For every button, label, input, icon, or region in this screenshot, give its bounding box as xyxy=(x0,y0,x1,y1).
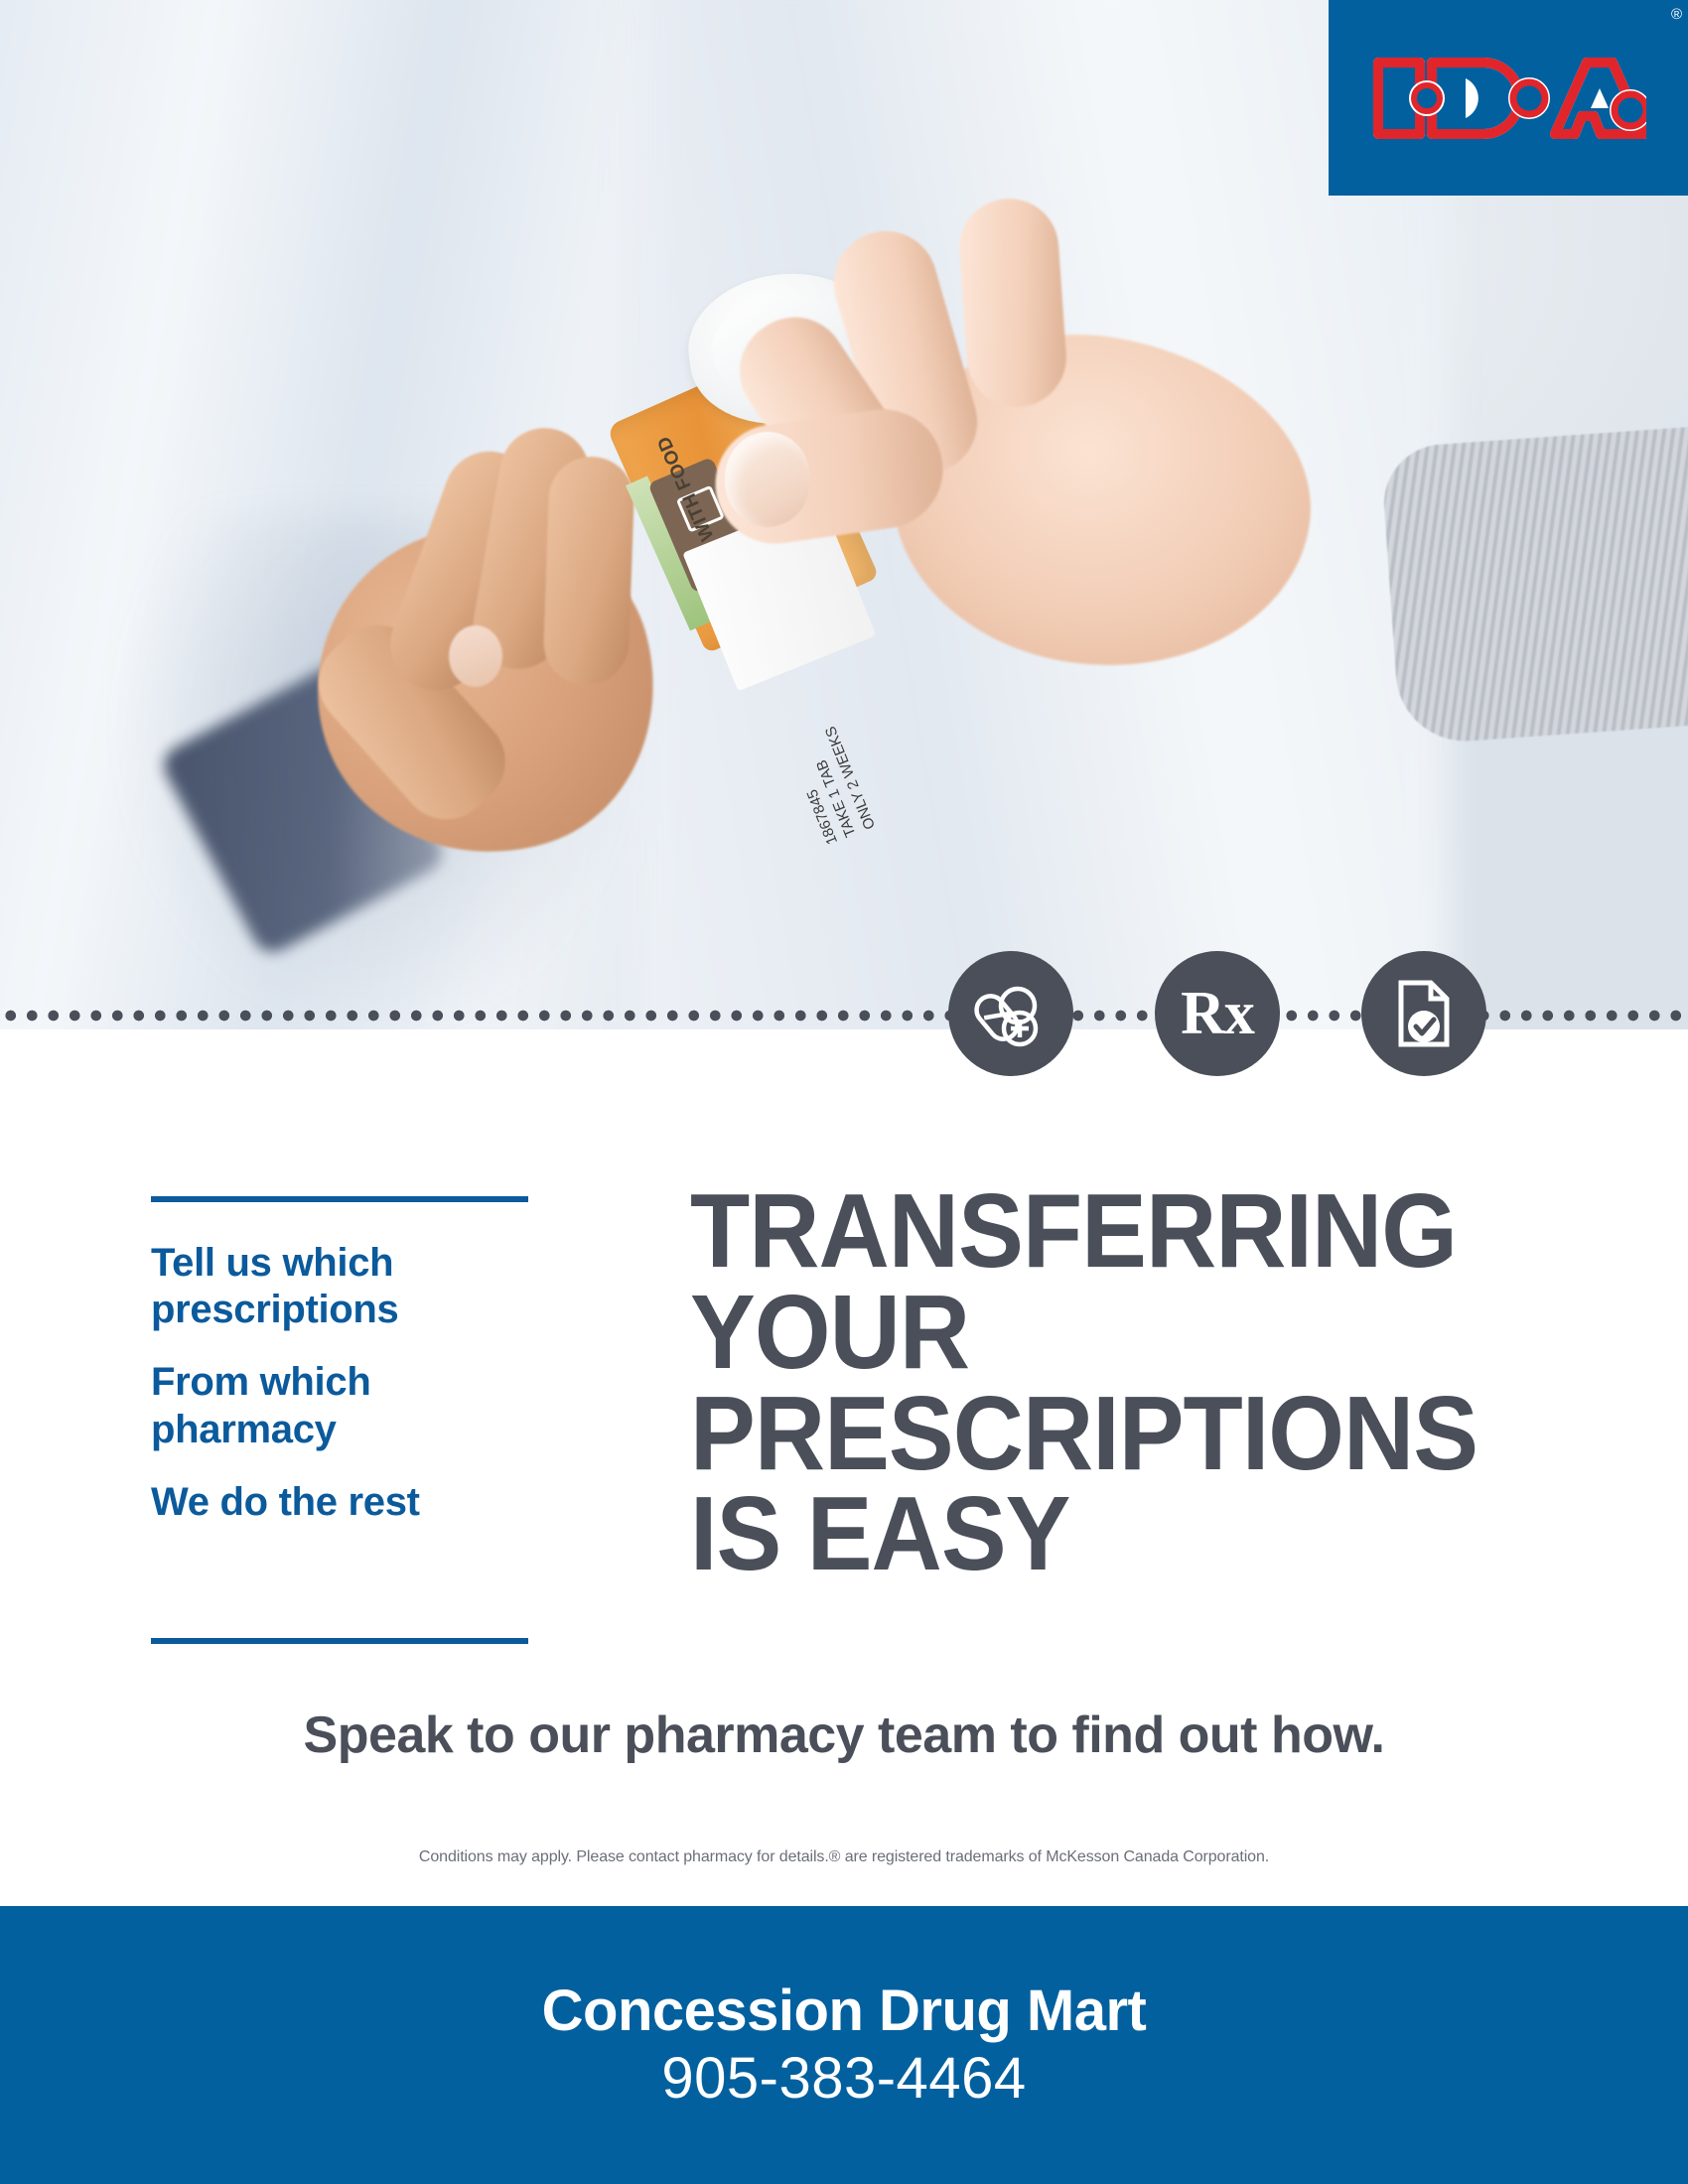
benefits-top-rule xyxy=(151,1196,528,1202)
gray-sweater-sleeve xyxy=(1380,426,1688,746)
ida-logo-mark xyxy=(1370,53,1646,144)
document-check-glyph xyxy=(1391,977,1457,1050)
store-footer: Concession Drug Mart 905-383-4464 xyxy=(0,1906,1688,2184)
rx-icon: Rx xyxy=(1155,951,1280,1076)
list-item: Tell us which prescriptions xyxy=(151,1240,538,1333)
headline-line-3: PRESCRIPTIONS xyxy=(690,1384,1466,1485)
pharmacist-fingernail xyxy=(449,625,502,687)
headline-line-4: IS EASY xyxy=(690,1484,1466,1585)
customer-hand xyxy=(735,189,1450,745)
subheadline: Speak to our pharmacy team to find out h… xyxy=(0,1706,1688,1765)
pharmacist-finger-3 xyxy=(542,456,635,687)
store-name: Concession Drug Mart xyxy=(542,1978,1147,2045)
icon-row: Rx xyxy=(948,951,1504,1080)
rx-glyph: Rx xyxy=(1181,983,1254,1044)
benefits-bottom-rule xyxy=(151,1638,528,1644)
list-item: We do the rest xyxy=(151,1479,538,1526)
registered-trademark-icon: ® xyxy=(1671,6,1682,23)
list-item: From which pharmacy xyxy=(151,1359,538,1452)
customer-thumbnail xyxy=(725,432,810,527)
benefits-list: Tell us which prescriptions From which p… xyxy=(151,1196,538,1526)
customer-finger-3 xyxy=(956,196,1069,410)
pills-plus-glyph xyxy=(974,977,1048,1050)
store-phone[interactable]: 905-383-4464 xyxy=(661,2045,1026,2113)
disclaimer-text: Conditions may apply. Please contact pha… xyxy=(0,1848,1688,1866)
pills-plus-icon xyxy=(948,951,1073,1076)
headline-line-2: YOUR xyxy=(690,1283,1466,1384)
headline-line-1: TRANSFERRING xyxy=(690,1181,1466,1283)
ida-logo: ® xyxy=(1329,0,1688,196)
document-check-icon xyxy=(1361,951,1486,1076)
page-title: TRANSFERRING YOUR PRESCRIPTIONS IS EASY xyxy=(690,1181,1466,1585)
pharmacy-transfer-poster: TAKE WITH FOOD 1867845 TAKE 1 TAB ONLY 2… xyxy=(0,0,1688,2184)
